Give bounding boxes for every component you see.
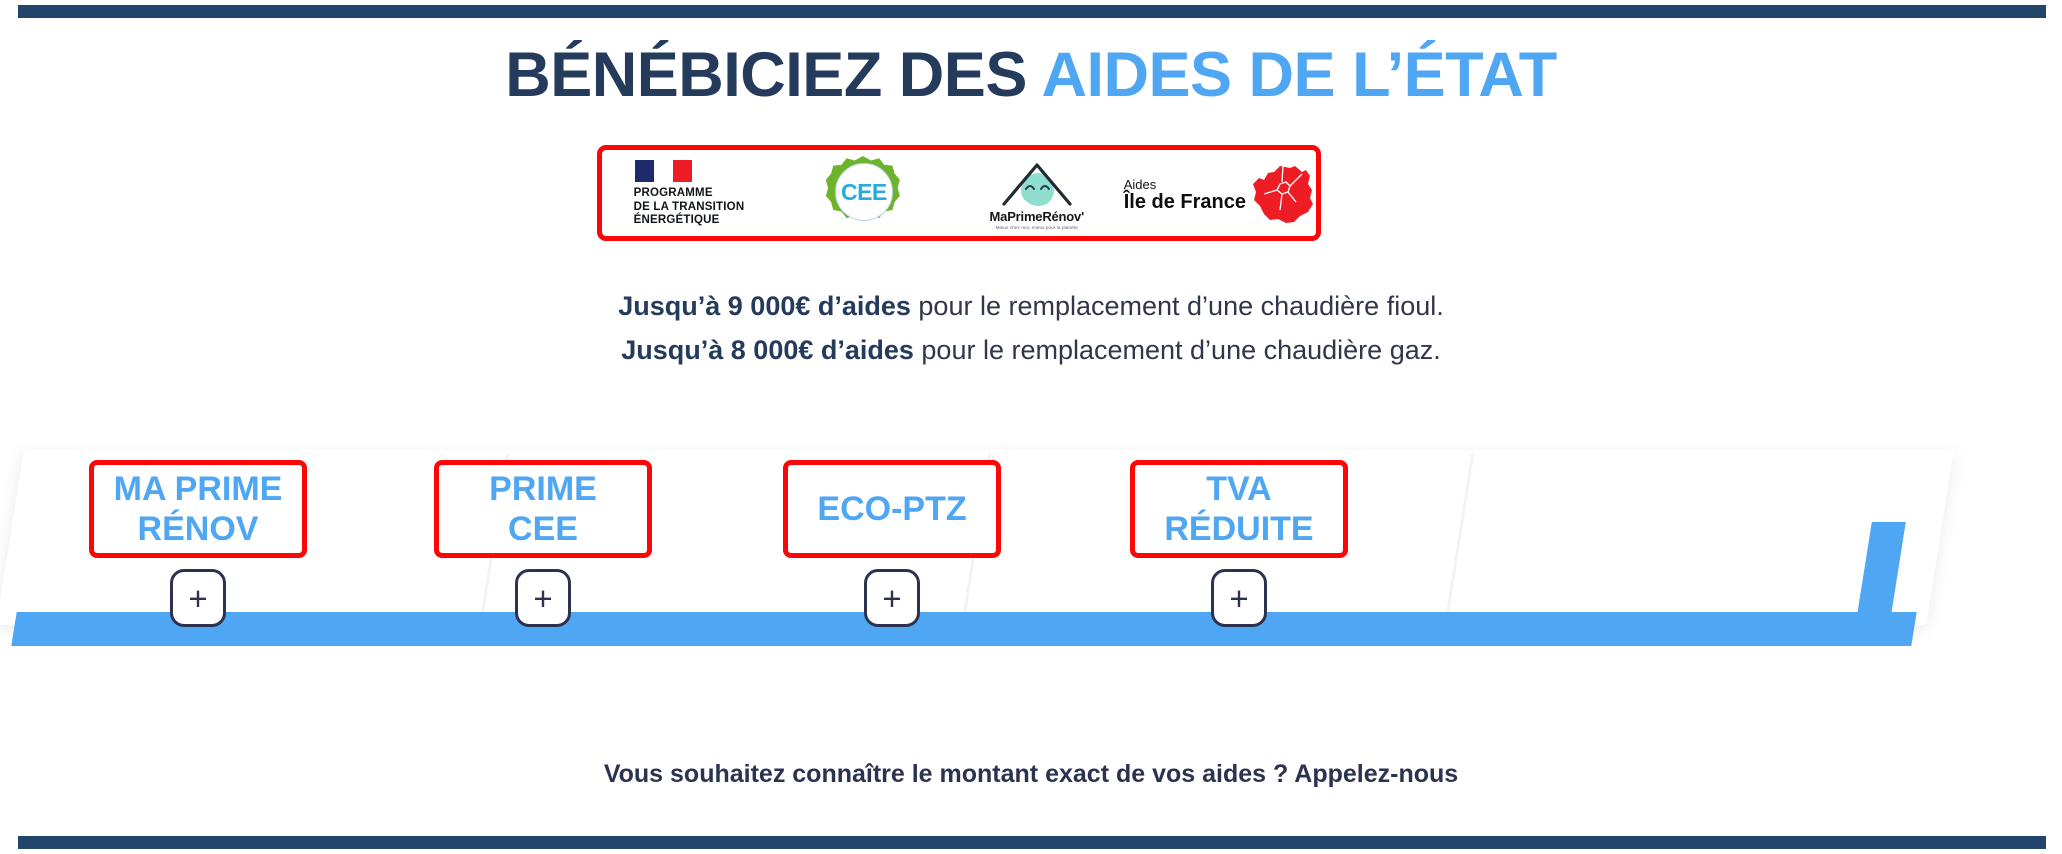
logo-programme-transition-energetique: PROGRAMME DE LA TRANSITION ÉNERGÉTIQUE [602,150,776,236]
maprimerenov-tagline: Mieux chez moi, mieux pour la planète [996,225,1078,230]
aids-ribbon: MA PRIME RÉNOV + PRIME CEE + ECO-PTZ [0,440,2062,670]
aid-label-line-1: MA PRIME [114,469,283,509]
page-title: BÉNÉBICIEZ DES AIDES DE L’ÉTAT [0,42,2062,108]
aid-amounts: Jusqu’à 9 000€ d’aides pour le remplacem… [0,285,2062,372]
aid-label-box[interactable]: PRIME CEE [434,460,652,558]
logo-maprimerenov: MaPrimeRénov' Mieux chez moi, mieux pour… [950,150,1124,236]
page-title-light: AIDES DE L’ÉTAT [1042,40,1557,110]
logo-aides-ile-de-france: Aides Île de France [1124,150,1316,236]
aid-label-box[interactable]: ECO-PTZ [783,460,1001,558]
aid-label-line-1: TVA RÉDUITE [1149,469,1329,549]
aides-etat-section: BÉNÉBICIEZ DES AIDES DE L’ÉTAT PROGRAMME… [0,0,2062,854]
expand-plus-button[interactable]: + [864,569,920,627]
ile-de-france-map-icon [1250,164,1316,226]
idf-line-2: Île de France [1124,192,1246,213]
aid-item-ma-prime-renov[interactable]: MA PRIME RÉNOV + [89,460,307,627]
aid-amount-rest: pour le remplacement d’une chaudière gaz… [914,335,1441,365]
aid-amount-line: Jusqu’à 9 000€ d’aides pour le remplacem… [0,285,2062,329]
smiling-eyes-icon [1025,182,1051,192]
maprimerenov-house-icon [998,160,1076,206]
expand-plus-button[interactable]: + [170,569,226,627]
aid-amount-line: Jusqu’à 8 000€ d’aides pour le remplacem… [0,329,2062,373]
top-accent-bar [18,5,2046,18]
aid-label-line-2: RÉNOV [114,509,283,549]
logo-cee: CEE [776,150,950,236]
aid-label-box[interactable]: MA PRIME RÉNOV [89,460,307,558]
aid-item-tva-reduite[interactable]: TVA RÉDUITE + [1130,460,1348,627]
page-title-dark: BÉNÉBICIEZ DES [505,40,1041,110]
aid-label-line-2: CEE [489,509,597,549]
aid-amount-rest: pour le remplacement d’une chaudière fio… [911,291,1444,321]
pte-line-3: ÉNERGÉTIQUE [634,214,745,228]
aid-amount-bold: Jusqu’à 8 000€ d’aides [621,335,914,365]
call-to-action-text: Vous souhaitez connaître le montant exac… [0,760,2062,789]
partner-logo-band: PROGRAMME DE LA TRANSITION ÉNERGÉTIQUE C… [597,145,1321,241]
aid-amount-bold: Jusqu’à 9 000€ d’aides [618,291,911,321]
aid-label-box[interactable]: TVA RÉDUITE [1130,460,1348,558]
expand-plus-button[interactable]: + [515,569,571,627]
cee-label: CEE [841,179,887,206]
french-flag-icon [635,160,692,182]
aid-item-prime-cee[interactable]: PRIME CEE + [434,460,652,627]
expand-plus-button[interactable]: + [1211,569,1267,627]
maprimerenov-label: MaPrimeRénov' [990,209,1084,224]
pte-line-1: PROGRAMME [634,187,745,201]
idf-line-1: Aides [1124,178,1246,191]
aid-label-line-1: ECO-PTZ [817,489,966,529]
bottom-accent-bar [18,836,2046,849]
aid-label-line-1: PRIME [489,469,597,509]
pte-line-2: DE LA TRANSITION [634,201,745,215]
aid-item-eco-ptz[interactable]: ECO-PTZ + [783,460,1001,627]
